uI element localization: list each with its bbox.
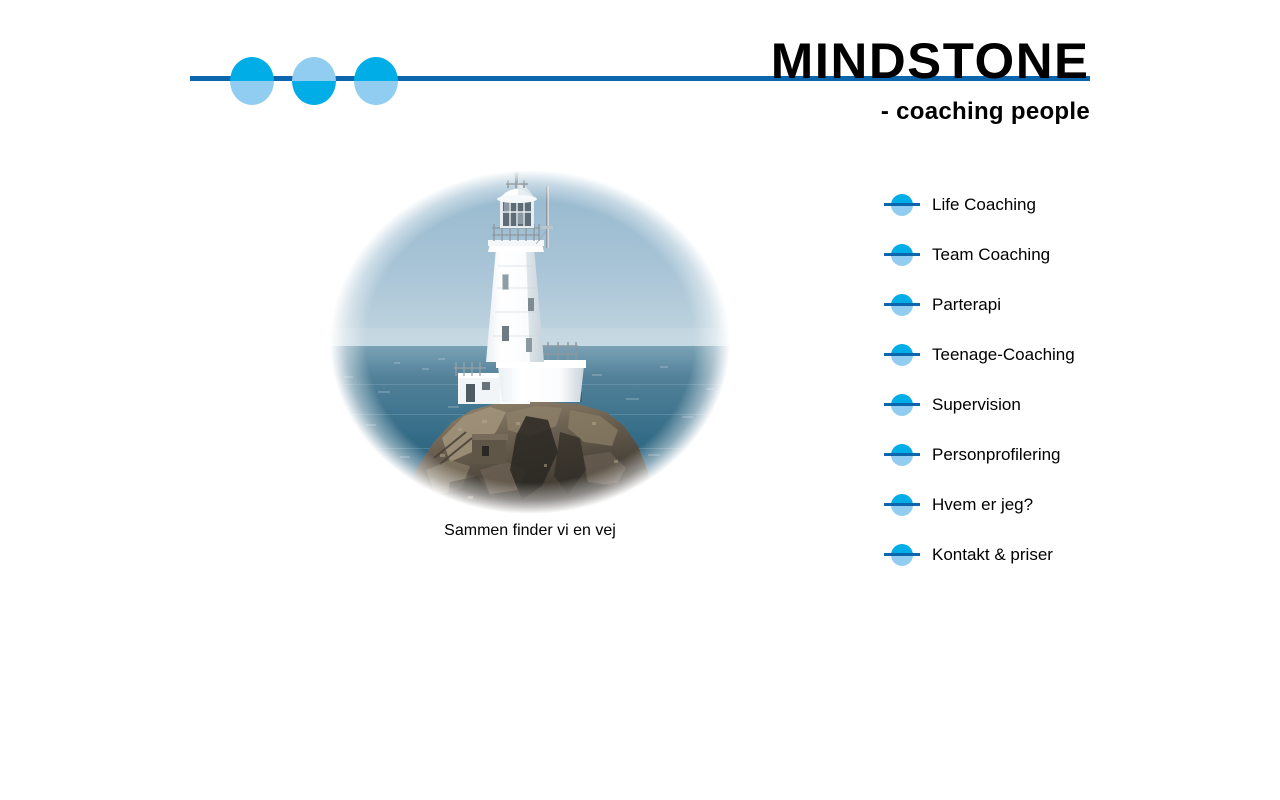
nav-bullet-icon bbox=[884, 193, 920, 217]
logo-dot-3-bottom-half bbox=[354, 81, 398, 105]
nav-bullet-icon bbox=[884, 443, 920, 467]
logo-dot-2-top-half bbox=[292, 57, 336, 81]
nav-item-parterapi[interactable]: Parterapi bbox=[884, 280, 1214, 330]
logo-mark bbox=[230, 57, 410, 105]
nav-bullet-bottom-half bbox=[891, 355, 913, 366]
nav-bullet-bottom-half bbox=[891, 455, 913, 466]
logo-dot-2-bottom-half bbox=[292, 81, 336, 105]
main-content: Sammen finder vi en vej Life Coaching bbox=[0, 150, 1280, 800]
nav-item-hvem-er-jeg[interactable]: Hvem er jeg? bbox=[884, 480, 1214, 530]
nav-bullet-icon bbox=[884, 343, 920, 367]
photo-caption: Sammen finder vi en vej bbox=[330, 522, 730, 540]
nav-bullet-bar bbox=[884, 353, 920, 356]
logo-dot-3-top-half bbox=[354, 57, 398, 81]
nav-bullet-bottom-half bbox=[891, 555, 913, 566]
nav-bullet-bar bbox=[884, 253, 920, 256]
nav-bullet-icon bbox=[884, 243, 920, 267]
site-title: MINDSTONE bbox=[771, 36, 1090, 86]
nav-item-personprofilering[interactable]: Personprofilering bbox=[884, 430, 1214, 480]
nav-item-supervision[interactable]: Supervision bbox=[884, 380, 1214, 430]
logo-dot-3-icon bbox=[354, 57, 398, 105]
nav-item-teenage-coaching[interactable]: Teenage-Coaching bbox=[884, 330, 1214, 380]
main-navigation: Life Coaching Team Coaching Parterapi bbox=[884, 180, 1214, 580]
logo-dot-2-icon bbox=[292, 57, 336, 105]
site-header: MINDSTONE - coaching people bbox=[0, 0, 1280, 150]
nav-bullet-bottom-half bbox=[891, 405, 913, 416]
logo-dot-1-top-half bbox=[230, 57, 274, 81]
site-tagline: - coaching people bbox=[777, 98, 1090, 126]
nav-bullet-icon bbox=[884, 543, 920, 567]
nav-bullet-icon bbox=[884, 493, 920, 517]
nav-bullet-bottom-half bbox=[891, 255, 913, 266]
nav-item-label: Kontakt & priser bbox=[932, 545, 1053, 565]
nav-item-label: Personprofilering bbox=[932, 445, 1061, 465]
nav-bullet-bar bbox=[884, 553, 920, 556]
nav-bullet-bar bbox=[884, 303, 920, 306]
nav-item-label: Teenage-Coaching bbox=[932, 345, 1075, 365]
nav-bullet-bar bbox=[884, 453, 920, 456]
nav-item-label: Life Coaching bbox=[932, 195, 1036, 215]
nav-bullet-bar bbox=[884, 203, 920, 206]
nav-bullet-bottom-half bbox=[891, 205, 913, 216]
nav-item-label: Supervision bbox=[932, 395, 1021, 415]
lighthouse-photo bbox=[330, 170, 730, 515]
nav-item-label: Hvem er jeg? bbox=[932, 495, 1033, 515]
nav-item-life-coaching[interactable]: Life Coaching bbox=[884, 180, 1214, 230]
brand-block: MINDSTONE - coaching people bbox=[777, 36, 1090, 126]
nav-bullet-icon bbox=[884, 293, 920, 317]
logo-dot-1-bottom-half bbox=[230, 81, 274, 105]
nav-bullet-bar bbox=[884, 403, 920, 406]
nav-bullet-bar bbox=[884, 503, 920, 506]
nav-item-kontakt-priser[interactable]: Kontakt & priser bbox=[884, 530, 1214, 580]
nav-bullet-icon bbox=[884, 393, 920, 417]
nav-item-team-coaching[interactable]: Team Coaching bbox=[884, 230, 1214, 280]
logo-dot-1-icon bbox=[230, 57, 274, 105]
nav-item-label: Team Coaching bbox=[932, 245, 1050, 265]
nav-bullet-bottom-half bbox=[891, 505, 913, 516]
nav-item-label: Parterapi bbox=[932, 295, 1001, 315]
hero-photo-block: Sammen finder vi en vej bbox=[330, 170, 730, 570]
nav-bullet-bottom-half bbox=[891, 305, 913, 316]
